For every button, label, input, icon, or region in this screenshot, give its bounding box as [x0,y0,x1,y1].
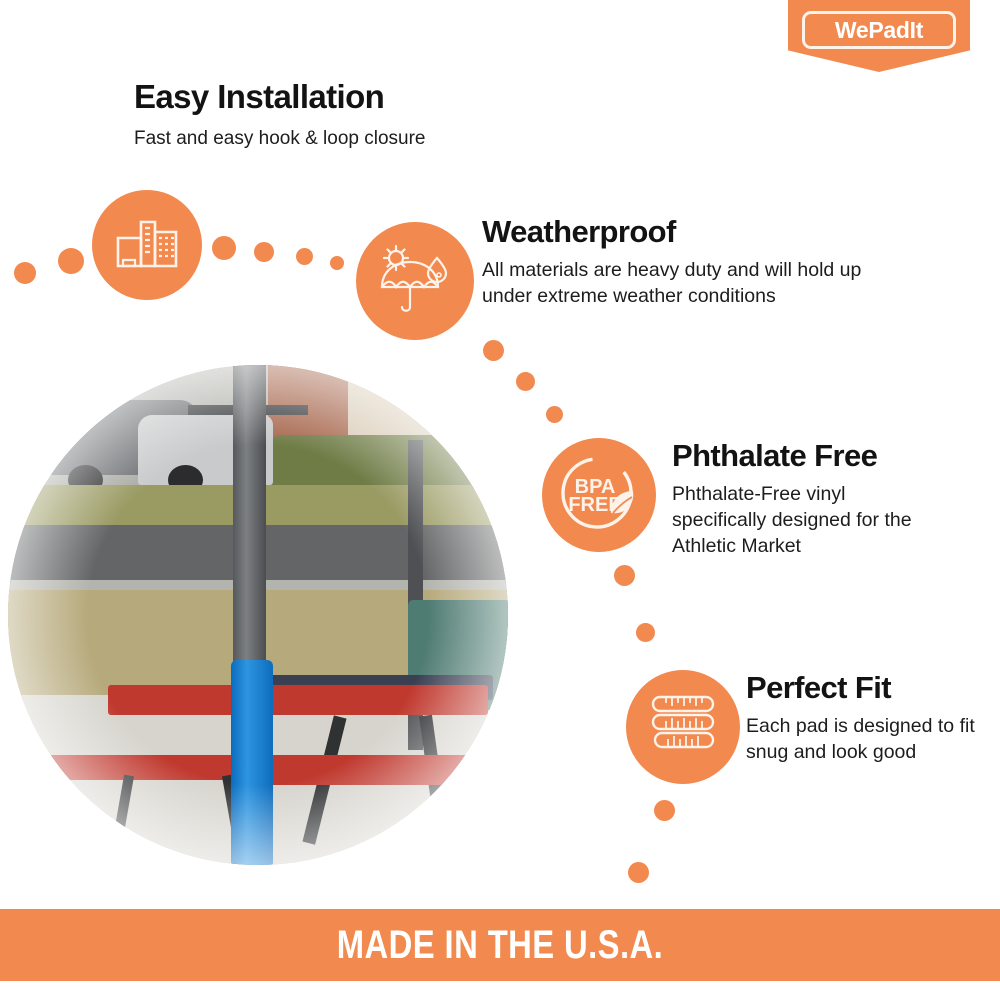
trail-dot [254,242,274,262]
umbrella-sun-raindrop-icon [356,222,474,340]
tape-measure-icon [626,670,740,784]
infographic-page: WePadIt Easy Installation Fast and easy … [0,0,1000,987]
feature-title-easy-installation: Easy Installation [134,80,384,115]
feature-body-easy-installation: Fast and easy hook & loop closure [134,126,554,151]
logo-outline-pill: WePadIt [802,11,956,49]
trail-dot [14,262,36,284]
wepadit-logo[interactable]: WePadIt [788,0,970,72]
trail-dot [654,800,675,821]
feature-body-perfect-fit: Each pad is designed to fit snug and loo… [746,714,978,766]
trail-dot [58,248,84,274]
made-in-usa-text: MADE IN THE U.S.A. [337,923,663,968]
logo-text: WePadIt [835,19,923,42]
feature-body-phthalate-free: Phthalate-Free vinyl specifically design… [672,482,940,560]
trail-dot [546,406,563,423]
trail-dot [330,256,344,270]
feature-title-phthalate-free: Phthalate Free [672,440,877,473]
made-in-usa-banner: MADE IN THE U.S.A. [0,909,1000,981]
trail-dot [516,372,535,391]
feature-body-weatherproof: All materials are heavy duty and will ho… [482,258,912,310]
bpa-free-leaf-icon: BPA FREE [542,438,656,552]
photo-vignette [8,365,508,865]
feature-title-perfect-fit: Perfect Fit [746,672,891,705]
buildings-icon [92,190,202,300]
trail-dot [296,248,313,265]
trail-dot [628,862,649,883]
trail-dot [212,236,236,260]
trail-dot [483,340,504,361]
feature-title-weatherproof: Weatherproof [482,216,676,249]
product-photo-pole-pad [8,365,508,865]
trail-dot [614,565,635,586]
trail-dot [636,623,655,642]
